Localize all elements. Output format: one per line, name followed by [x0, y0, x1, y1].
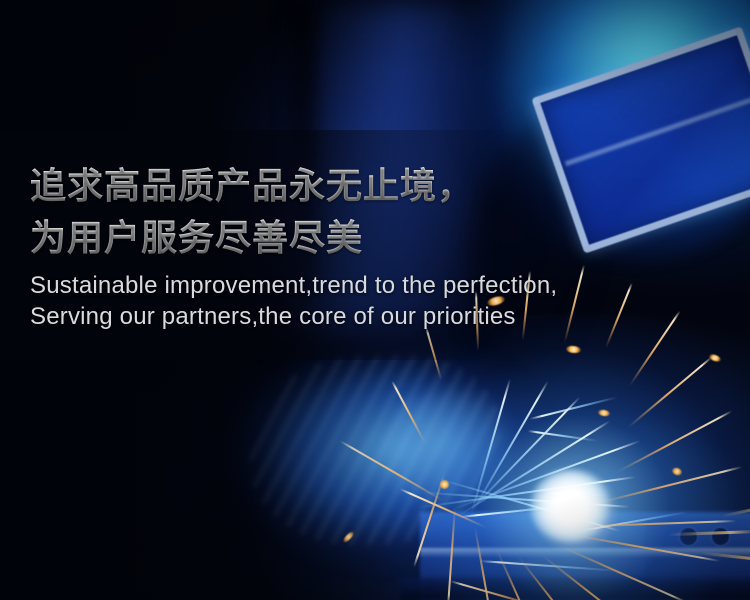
spark-streak — [400, 488, 488, 528]
spark-streak — [468, 396, 581, 512]
spark-ember — [671, 467, 683, 477]
spark-streak — [566, 520, 736, 528]
welding-hero-banner: 追求高品质产品永无止境， 为用户服务尽善尽美 Sustainable impro… — [0, 0, 750, 600]
spark-streak — [474, 526, 495, 600]
spark-streak — [496, 550, 543, 600]
welding-arc-flash — [530, 470, 610, 542]
helmet-highlight — [550, 0, 730, 130]
spark-ember — [598, 409, 611, 417]
welding-arc-glow — [375, 315, 750, 600]
spark-streak — [530, 396, 618, 420]
welder-glove — [215, 330, 545, 580]
spark-streak — [425, 327, 442, 380]
subheadline-block: Sustainable improvement,trend to the per… — [30, 270, 710, 332]
spark-streak — [470, 379, 511, 514]
headline-zh-line-1: 追求高品质产品永无止境， — [30, 160, 710, 212]
plate-bottom-shadow — [400, 578, 750, 600]
spark-streak — [617, 410, 733, 473]
spark-streak — [420, 491, 630, 508]
spark-streak — [340, 440, 445, 502]
spark-ember — [708, 353, 721, 363]
subheadline-en-line-1: Sustainable improvement,trend to the per… — [30, 270, 710, 301]
spark-ember — [342, 530, 355, 544]
plate-top-edge-highlight — [420, 548, 750, 557]
spark-streak — [562, 532, 720, 562]
subheadline-en-line-2: Serving our partners,the core of our pri… — [30, 301, 710, 332]
glove-highlight — [380, 390, 520, 510]
spark-streak — [560, 545, 689, 600]
spark-streak — [700, 552, 750, 563]
spark-streak — [596, 466, 742, 504]
spark-streak — [548, 492, 608, 496]
spark-streak — [528, 430, 598, 442]
glove-fabric-folds — [250, 355, 500, 545]
spark-streak — [437, 478, 620, 532]
spark-streak — [460, 503, 580, 518]
spark-ember — [440, 480, 449, 489]
spark-streak — [418, 476, 636, 509]
steel-workpiece-plate — [420, 512, 750, 600]
bracket-hole-icon — [680, 528, 697, 545]
spark-streak — [721, 498, 750, 518]
spark-streak — [517, 556, 592, 600]
spark-streak — [413, 472, 446, 568]
spark-streak — [450, 580, 547, 600]
visor-inner-edge — [565, 95, 750, 166]
spark-streak — [668, 530, 750, 536]
steel-bracket — [645, 518, 750, 578]
spark-ember — [566, 345, 582, 354]
spark-streak — [541, 554, 645, 600]
bracket-hole-icon — [712, 528, 729, 545]
spark-streak — [391, 381, 426, 444]
spark-streak — [452, 440, 641, 510]
spark-streak — [480, 560, 620, 572]
spark-streak — [580, 511, 689, 532]
spark-streak — [472, 381, 549, 512]
hero-copy-block: 追求高品质产品永无止境， 为用户服务尽善尽美 Sustainable impro… — [30, 160, 710, 332]
spark-streak — [457, 420, 611, 517]
spark-streak — [447, 507, 456, 600]
spark-streak — [627, 356, 713, 428]
headline-zh-line-2: 为用户服务尽善尽美 — [30, 212, 710, 264]
